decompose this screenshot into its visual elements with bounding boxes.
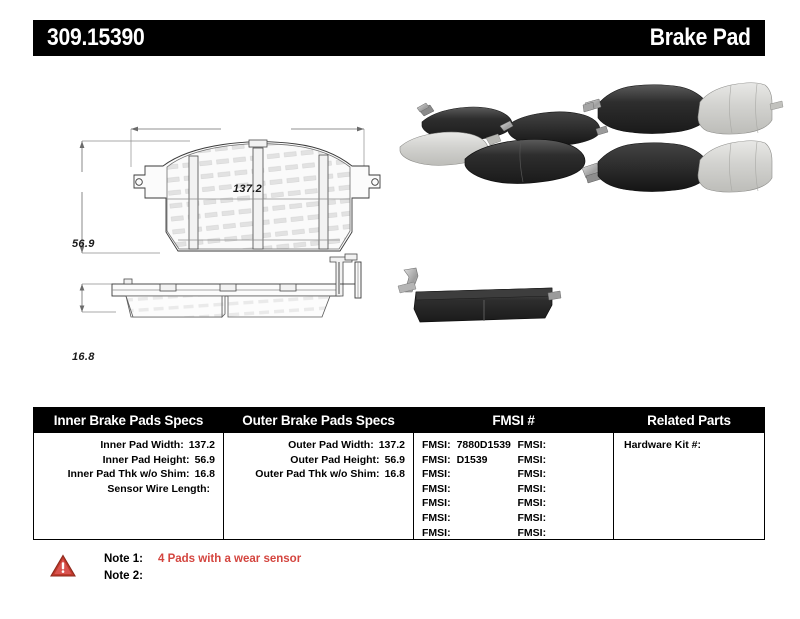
table-row: FMSI: — [518, 438, 614, 453]
product-title: Brake Pad — [650, 24, 751, 52]
table-row: Outer Pad Width: 137.2 — [232, 438, 405, 453]
table-row: Inner Pad Width: 137.2 — [42, 438, 215, 453]
table-row: Inner Pad Thk w/o Shim: 16.8 — [42, 467, 215, 482]
column-header-fmsi: FMSI # — [414, 408, 613, 433]
table-row: FMSI: — [422, 526, 518, 541]
fmsi-label: FMSI: — [518, 453, 547, 468]
column-body-outer: Outer Pad Width: 137.2 Outer Pad Height:… — [224, 433, 413, 482]
table-row: FMSI: 7880D1539 — [422, 438, 518, 453]
spec-table: Inner Brake Pads Specs Inner Pad Width: … — [33, 407, 765, 540]
center-tab — [249, 140, 267, 147]
fmsi-subcolumn-left: FMSI: 7880D1539 FMSI: D1539 FMSI: FMSI: — [422, 438, 518, 540]
note-text: 4 Pads with a wear sensor — [158, 551, 301, 568]
pad-profile-photo — [398, 268, 561, 322]
fmsi-label: FMSI: — [518, 438, 547, 453]
spec-value: 16.8 — [385, 467, 405, 482]
column-header-related: Related Parts — [614, 408, 764, 433]
spec-value: 56.9 — [195, 453, 215, 468]
technical-drawings-svg — [0, 62, 800, 392]
part-number: 309.15390 — [47, 24, 144, 52]
fmsi-label: FMSI: — [518, 482, 547, 497]
fmsi-label: FMSI: — [518, 526, 547, 541]
column-body-related: Hardware Kit #: — [614, 433, 764, 453]
fmsi-label: FMSI: — [422, 453, 451, 468]
table-column-related: Related Parts Hardware Kit #: — [614, 408, 764, 539]
table-row: FMSI: — [518, 526, 614, 541]
dimension-line-thickness — [80, 284, 116, 312]
dimension-label-height: 56.9 — [72, 238, 95, 250]
product-spec-sheet: 309.15390 Brake Pad — [0, 0, 800, 619]
side-view-cad — [80, 254, 361, 317]
note-item: Note 1: 4 Pads with a wear sensor — [104, 551, 301, 568]
column-header-inner: Inner Brake Pads Specs — [34, 408, 223, 433]
fmsi-label: FMSI: — [518, 467, 547, 482]
dimension-label-thickness: 16.8 — [72, 351, 95, 363]
fmsi-label: FMSI: — [422, 467, 451, 482]
table-row: FMSI: — [422, 496, 518, 511]
table-row: FMSI: — [518, 467, 614, 482]
fmsi-label: FMSI: — [518, 496, 547, 511]
table-row: Sensor Wire Length: — [42, 482, 215, 497]
table-row: FMSI: — [518, 511, 614, 526]
table-row: FMSI: — [518, 482, 614, 497]
fmsi-label: FMSI: — [422, 496, 451, 511]
fmsi-value: 7880D1539 — [457, 438, 511, 453]
friction-block-right — [228, 296, 330, 317]
front-view-cad — [80, 127, 380, 253]
table-row: FMSI: — [422, 511, 518, 526]
table-column-fmsi: FMSI # FMSI: 7880D1539 FMSI: D1539 FMSI: — [414, 408, 614, 539]
fmsi-label: FMSI: — [422, 511, 451, 526]
spec-label: Inner Pad Thk w/o Shim: — [68, 467, 190, 482]
spec-value: 137.2 — [189, 438, 215, 453]
spec-label: Outer Pad Width: — [288, 438, 374, 453]
column-body-inner: Inner Pad Width: 137.2 Inner Pad Height:… — [34, 433, 223, 496]
header-bar: 309.15390 Brake Pad — [33, 20, 765, 56]
table-row: Outer Pad Thk w/o Shim: 16.8 — [232, 467, 405, 482]
notes-list: Note 1: 4 Pads with a wear sensor Note 2… — [104, 551, 301, 585]
note-key: Note 2: — [104, 568, 152, 585]
table-row: FMSI: — [518, 496, 614, 511]
note-key: Note 1: — [104, 551, 152, 568]
fmsi-label: FMSI: — [422, 526, 451, 541]
table-row: FMSI: — [422, 467, 518, 482]
spec-label: Outer Pad Thk w/o Shim: — [255, 467, 379, 482]
dimension-label-width: 137.2 — [233, 183, 262, 195]
drawing-area: 137.2 56.9 16.8 — [0, 62, 800, 392]
spec-label: Outer Pad Height: — [290, 453, 379, 468]
spec-value: 16.8 — [195, 467, 215, 482]
fmsi-subcolumn-right: FMSI: FMSI: FMSI: FMSI: — [518, 438, 614, 540]
table-row: Inner Pad Height: 56.9 — [42, 453, 215, 468]
pads-angled-photo — [400, 103, 608, 184]
warning-triangle-icon — [50, 554, 76, 578]
table-row: FMSI: — [518, 453, 614, 468]
hardware-kit-label: Hardware Kit #: — [622, 438, 756, 453]
table-column-outer: Outer Brake Pads Specs Outer Pad Width: … — [224, 408, 414, 539]
spec-label: Inner Pad Width: — [100, 438, 183, 453]
spec-label: Inner Pad Height: — [103, 453, 190, 468]
table-row: FMSI: — [422, 482, 518, 497]
fmsi-label: FMSI: — [518, 511, 547, 526]
column-body-fmsi: FMSI: 7880D1539 FMSI: D1539 FMSI: FMSI: — [414, 433, 613, 540]
spec-value: 56.9 — [385, 453, 405, 468]
spec-value: 137.2 — [379, 438, 405, 453]
fmsi-value: D1539 — [457, 453, 488, 468]
table-row: FMSI: D1539 — [422, 453, 518, 468]
table-column-inner: Inner Brake Pads Specs Inner Pad Width: … — [34, 408, 224, 539]
table-row: Outer Pad Height: 56.9 — [232, 453, 405, 468]
fmsi-label: FMSI: — [422, 482, 451, 497]
column-header-outer: Outer Brake Pads Specs — [224, 408, 413, 433]
fmsi-label: FMSI: — [422, 438, 451, 453]
notes-area: Note 1: 4 Pads with a wear sensor Note 2… — [50, 551, 470, 585]
pads-flat-photo — [583, 83, 783, 192]
note-item: Note 2: — [104, 568, 301, 585]
spec-label: Sensor Wire Length: — [107, 482, 210, 497]
friction-block-left — [126, 296, 222, 317]
